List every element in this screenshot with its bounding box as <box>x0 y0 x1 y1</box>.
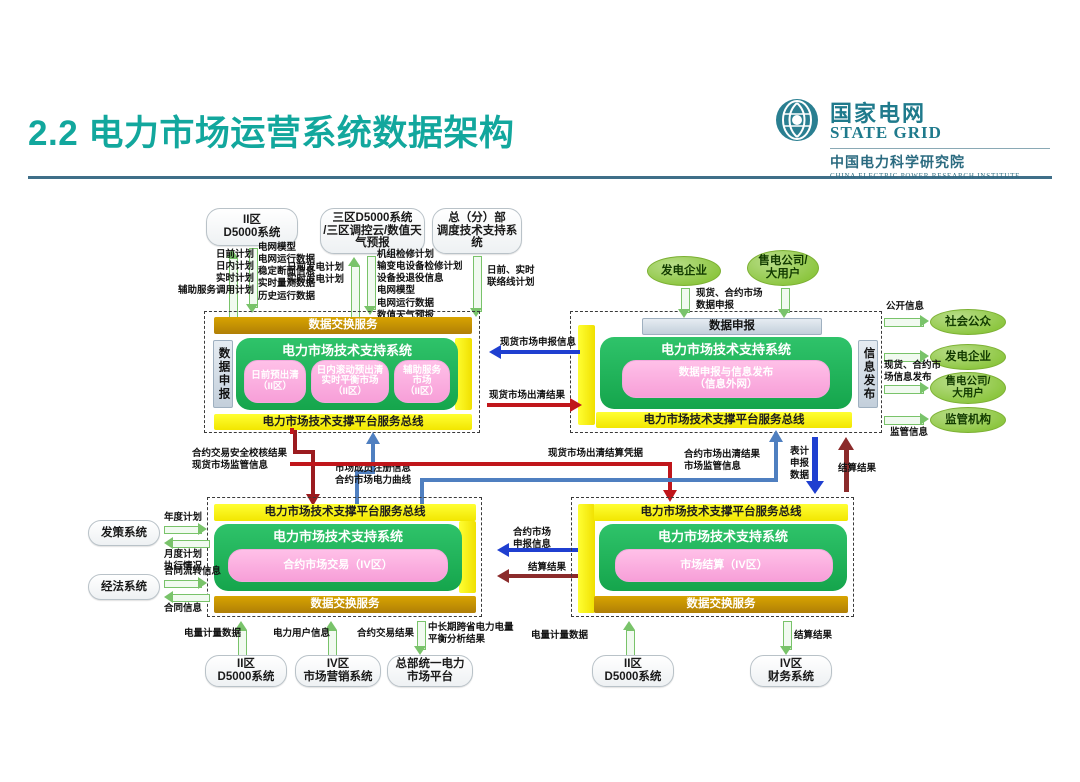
label-bsrc-6: 结算结果 <box>794 630 832 642</box>
path-settle-voucher-h <box>290 462 672 466</box>
side-label-info-publish: 信息发布 <box>858 340 878 408</box>
arrow-settle-top-head <box>838 437 854 450</box>
service-bus-bottom-right: 电力市场技术支撑平台服务总线 <box>594 504 848 521</box>
label-settle-result-top: 结算结果 <box>838 463 876 475</box>
brand-logo: 国家电网 STATE GRID 中国电力科学研究院 CHINA ELECTRIC… <box>775 98 1050 170</box>
system-label: 发策系统 <box>101 527 147 540</box>
module-label: 日前预出清 （II区） <box>251 371 299 392</box>
label-bsrc-3: 合约交易结果 <box>357 628 414 640</box>
bus-label: 电力市场技术支撑平台服务总线 <box>265 506 426 519</box>
label-plan-out: 年度计划 <box>164 512 202 524</box>
source-label: 三区D5000系统 /三区调控云/数值天 气预报 <box>323 212 421 251</box>
source-label: 总（分）部 调度技术支持系 统 <box>437 212 518 251</box>
label-public-info: 公开信息 <box>886 301 924 313</box>
bar-label: 数据交换服务 <box>309 319 378 332</box>
path-settle-voucher-v0 <box>290 428 294 434</box>
actor-label: 社会公众 <box>945 316 991 329</box>
state-grid-logo-icon <box>775 98 819 142</box>
arrow-regulator-right <box>884 413 930 426</box>
label-meter-declare: 表计 申报 数据 <box>790 446 809 482</box>
module-contract-trading[interactable]: 合约市场交易（IV区） <box>228 549 448 582</box>
source-hq-dispatch[interactable]: 总（分）部 调度技术支持系 统 <box>432 208 522 254</box>
bottom-source-ii-d5000-left[interactable]: II区 D5000系统 <box>205 655 287 687</box>
flow-label-iii-down: 日前发电计划 实时发电计划 <box>287 262 344 286</box>
system-plan[interactable]: 发策系统 <box>88 520 160 546</box>
arrow-contract-declare-head <box>497 543 509 557</box>
bottom-source-iv-marketing[interactable]: IV区 市场营销系统 <box>295 655 381 687</box>
label-actor-declare: 现货、合约市场 数据申报 <box>696 288 763 312</box>
arrow-public-right <box>884 315 930 328</box>
source-label: II区 D5000系统 <box>224 214 281 240</box>
label-settle-voucher: 现货市场出清结算凭据 <box>548 448 643 460</box>
flow-label-hq-down: 日前、实时 联络线计划 <box>487 265 535 289</box>
source-label: II区 D5000系统 <box>218 658 275 684</box>
flow-label-ii-down: 日前计划 日内计划 实时计划 辅助服务调用计划 <box>178 249 254 298</box>
declare-bar-top-right: 数据申报 <box>642 318 822 335</box>
label-settle-result-mid: 结算结果 <box>528 562 566 574</box>
source-ii-d5000[interactable]: II区 D5000系统 <box>206 208 298 246</box>
module-label: 市场结算（IV区） <box>680 559 767 571</box>
source-label: II区 D5000系统 <box>605 658 662 684</box>
bus-label: 电力市场技术支撑平台服务总线 <box>641 506 802 519</box>
logo-text-en: STATE GRID <box>830 123 942 143</box>
side-label-text: 数据申报 <box>217 347 230 401</box>
label-market-info: 现货、合约市 场信息发布 <box>884 360 941 384</box>
system-title: 电力市场技术支持系统 <box>236 344 458 359</box>
system-title: 电力市场技术支持系统 <box>599 530 847 545</box>
system-title: 电力市场技术支持系统 <box>214 530 462 545</box>
label-contract-check: 合约交易安全校核结果 现货市场监管信息 <box>192 448 287 472</box>
bus-label: 电力市场技术支撑平台服务总线 <box>263 416 424 429</box>
data-exchange-service-bottom-left: 数据交换服务 <box>214 596 476 613</box>
arrow-meter-declare-shaft <box>812 437 818 485</box>
logo-divider <box>830 148 1050 149</box>
side-label-text: 信息发布 <box>862 347 875 401</box>
module-label: 合约市场交易（IV区） <box>283 559 392 571</box>
path-contract-clear-vright <box>774 440 778 480</box>
actor-genco-right[interactable]: 发电企业 <box>930 344 1006 370</box>
bus-label: 电力市场技术支撑平台服务总线 <box>644 414 805 427</box>
label-member-reg: 市场成员注册信息 合约市场电力曲线 <box>335 463 411 487</box>
bottom-source-iv-finance[interactable]: IV区 财务系统 <box>750 655 832 687</box>
arrow-settle-mid-head <box>497 569 509 583</box>
arrow-spot-declare-shaft <box>500 350 580 354</box>
actor-label: 监管机构 <box>945 414 991 427</box>
arrow-spot-clear-head <box>570 398 582 412</box>
label-contract-clear: 合约市场出清结果 市场监管信息 <box>684 449 760 473</box>
label-bsrc-1: 电量计量数据 <box>184 628 241 640</box>
service-bus-bottom-left: 电力市场技术支撑平台服务总线 <box>214 504 476 521</box>
bar-label: 数据交换服务 <box>687 598 756 611</box>
system-label: 经法系统 <box>101 581 147 594</box>
label-regulation-info: 监管信息 <box>890 427 928 439</box>
label-bsrc-2: 电力用户信息 <box>273 628 330 640</box>
module-market-settlement[interactable]: 市场结算（IV区） <box>615 549 833 582</box>
path-contract-clear-head <box>769 430 783 442</box>
service-bus-top-left: 电力市场技术支撑平台服务总线 <box>214 414 472 430</box>
actor-regulator[interactable]: 监管机构 <box>930 407 1006 433</box>
arrow-bsrc-3 <box>414 621 427 657</box>
actor-retailer-right[interactable]: 售电公司/ 大用户 <box>930 372 1006 404</box>
module-ancillary[interactable]: 辅助服务 市场 （II区） <box>394 360 450 403</box>
slide: 2.2 电力市场运营系统数据架构 国家电网 STATE GRID 中国电力科学研… <box>0 0 1080 782</box>
arrow-spot-clear-shaft <box>487 403 572 407</box>
service-bus-top-right: 电力市场技术支撑平台服务总线 <box>596 412 852 428</box>
bar-label: 数据申报 <box>709 320 755 333</box>
source-label: IV区 市场营销系统 <box>304 658 373 684</box>
arrow-bsrc-5 <box>623 621 636 657</box>
source-label: 总部统一电力 市场平台 <box>396 658 465 684</box>
side-label-data-declare-left: 数据申报 <box>213 340 233 408</box>
label-legal-in: 合同信息 <box>164 603 202 615</box>
arrow-bsrc-6 <box>780 621 793 657</box>
bus-side-bottom-right <box>578 504 595 613</box>
arrow-plan-in <box>164 538 208 549</box>
label-legal-out: 合同流转信息 <box>164 566 221 578</box>
actor-label: 发电企业 <box>661 265 707 278</box>
path-member-reg-head <box>366 432 380 444</box>
arrow-plan-out <box>164 524 208 535</box>
label-bsrc-5: 电量计量数据 <box>531 630 588 642</box>
module-label: 辅助服务 市场 （II区） <box>403 366 441 398</box>
bar-label: 数据交换服务 <box>311 598 380 611</box>
system-title: 电力市场技术支持系统 <box>600 343 852 358</box>
label-bsrc-4: 中长期跨省电力电量 平衡分析结果 <box>428 622 514 646</box>
path-contract-check-v2 <box>311 450 315 498</box>
module-intraday[interactable]: 日内滚动预出清 实时平衡市场 （II区） <box>311 360 389 403</box>
module-declare-publish[interactable]: 数据申报与信息发布 （信息外网） <box>622 360 830 398</box>
arrow-genco-down <box>678 288 691 320</box>
module-label: 数据申报与信息发布 （信息外网） <box>679 367 774 391</box>
bottom-source-hq-platform[interactable]: 总部统一电力 市场平台 <box>387 655 473 687</box>
bottom-source-ii-d5000-right[interactable]: II区 D5000系统 <box>592 655 674 687</box>
page-title: 2.2 电力市场运营系统数据架构 <box>28 105 514 156</box>
institute-name-en: CHINA ELECTRIC POWER RESEARCH INSTITUTE <box>830 172 1020 180</box>
actor-retailer[interactable]: 售电公司/ 大用户 <box>747 250 819 286</box>
actor-label: 发电企业 <box>945 351 991 364</box>
actor-public[interactable]: 社会公众 <box>930 309 1006 335</box>
arrow-legal-out <box>164 578 208 589</box>
institute-name-cn: 中国电力科学研究院 <box>830 152 965 172</box>
source-iii-d5000[interactable]: 三区D5000系统 /三区调控云/数值天 气预报 <box>320 208 425 254</box>
source-label: IV区 财务系统 <box>768 658 814 684</box>
system-legal[interactable]: 经法系统 <box>88 574 160 600</box>
path-contract-clear-h <box>420 478 778 482</box>
actor-label: 售电公司/ 大用户 <box>758 255 807 281</box>
actor-genco[interactable]: 发电企业 <box>647 256 721 286</box>
arrow-meter-declare-head <box>806 481 824 494</box>
arrow-retailer-down <box>778 288 791 320</box>
label-spot-clear: 现货市场出清结果 <box>489 390 565 402</box>
data-exchange-service-top-left: 数据交换服务 <box>214 317 472 334</box>
arrow-legal-in <box>164 592 208 603</box>
label-contract-declare: 合约市场 申报信息 <box>513 527 551 551</box>
data-exchange-service-bottom-right: 数据交换服务 <box>594 596 848 613</box>
actor-label: 售电公司/ 大用户 <box>946 376 991 400</box>
label-spot-declare: 现货市场申报信息 <box>500 337 576 349</box>
module-dayahead[interactable]: 日前预出清 （II区） <box>244 360 306 403</box>
arrow-iii-up <box>348 256 361 318</box>
module-label: 日内滚动预出清 实时平衡市场 （II区） <box>317 366 384 398</box>
arrow-iii-down <box>364 256 377 318</box>
